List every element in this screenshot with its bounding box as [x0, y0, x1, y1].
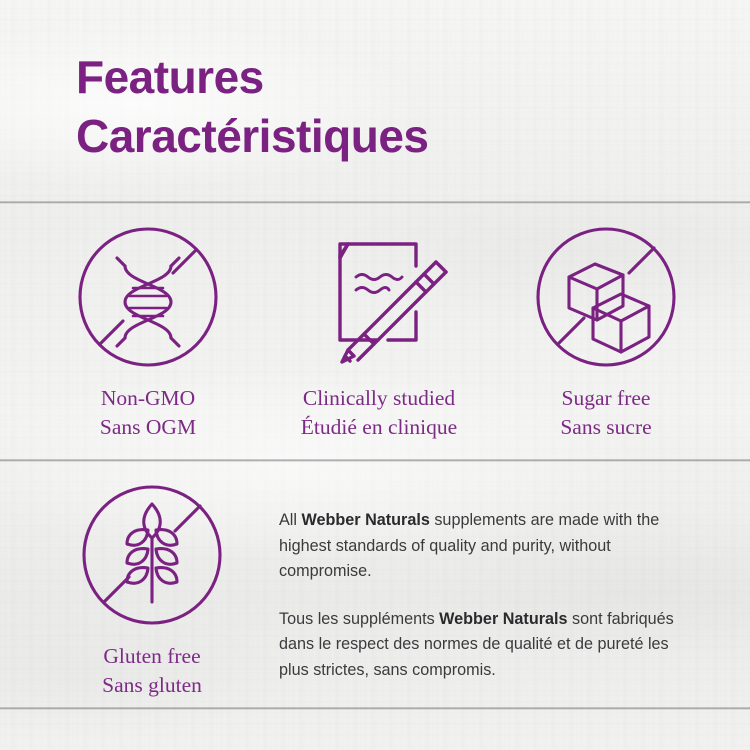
brand-statement: All Webber Naturals supplements are made…	[279, 508, 691, 684]
statement-fr-lead: Tous les suppléments	[279, 610, 439, 628]
sugar-free-cubes-icon	[531, 222, 681, 372]
feature-label-fr: Étudié en clinique	[268, 413, 490, 442]
feature-non-gmo: Non-GMO Sans OGM	[38, 222, 258, 442]
feature-label-en: Sugar free	[500, 384, 712, 413]
wood-plank-seam	[0, 707, 750, 710]
gluten-free-wheat-icon	[77, 480, 227, 630]
feature-label-fr: Sans OGM	[38, 413, 258, 442]
feature-sugar-free: Sugar free Sans sucre	[500, 222, 712, 442]
page-title-en: Features	[76, 48, 716, 107]
brand-name-fr: Webber Naturals	[439, 610, 567, 628]
feature-label-fr: Sans sucre	[500, 413, 712, 442]
non-gmo-dna-icon	[73, 222, 223, 372]
feature-clinically-studied: Clinically studied Étudié en clinique	[268, 222, 490, 442]
brand-statement-en: All Webber Naturals supplements are made…	[279, 508, 691, 585]
feature-label-en: Non-GMO	[38, 384, 258, 413]
page-title-fr: Caractéristiques	[76, 107, 716, 166]
feature-label-fr: Sans gluten	[42, 671, 262, 700]
brand-statement-fr: Tous les suppléments Webber Naturals son…	[279, 607, 691, 684]
page-header: Features Caractéristiques	[76, 48, 716, 166]
feature-label-en: Gluten free	[42, 642, 262, 671]
statement-en-lead: All	[279, 511, 302, 529]
feature-panel: Features Caractéristiques Non-GMO Sans O	[0, 0, 750, 750]
wood-plank-seam	[0, 201, 750, 204]
clinically-studied-document-pen-icon	[304, 222, 454, 372]
feature-gluten-free: Gluten free Sans gluten	[42, 480, 262, 700]
feature-label-en: Clinically studied	[268, 384, 490, 413]
brand-name-en: Webber Naturals	[302, 511, 430, 529]
wood-plank-seam	[0, 459, 750, 462]
